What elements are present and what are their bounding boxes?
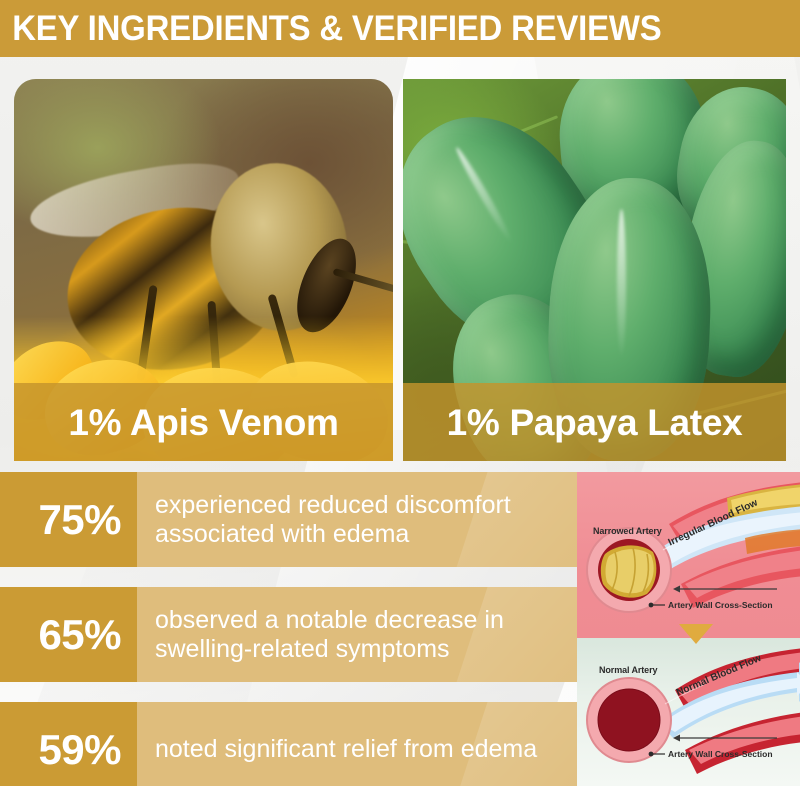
bottom-white-strip	[0, 786, 800, 800]
ingredient-card-papaya-latex[interactable]: 1% Papaya Latex	[403, 79, 786, 461]
statistics-list: 75% experienced reduced discomfort assoc…	[0, 472, 578, 800]
normal-artery-label: Normal Artery	[599, 665, 657, 675]
stat-description-text: noted significant relief from edema	[155, 735, 537, 764]
artery-comparison-diagram: Narrowed Artery Irregular Blood Flow Art…	[577, 472, 800, 786]
stat-percent-block: 75%	[0, 472, 137, 567]
stat-row: 59% noted significant relief from edema	[0, 702, 578, 797]
narrowed-artery-illustration	[577, 472, 800, 638]
normal-artery-illustration	[577, 638, 800, 786]
page-title: KEY INGREDIENTS & VERIFIED REVIEWS	[0, 11, 662, 46]
ingredient-card-apis-venom[interactable]: 1% Apis Venom	[14, 79, 393, 461]
ingredient-cards: 1% Apis Venom 1% Papaya Latex	[0, 57, 800, 461]
artery-wall-cross-section-label-top: Artery Wall Cross-Section	[668, 600, 773, 610]
ingredient-caption-bar: 1% Papaya Latex	[403, 383, 786, 461]
ingredient-caption-bar: 1% Apis Venom	[14, 383, 393, 461]
header-bar: KEY INGREDIENTS & VERIFIED REVIEWS	[0, 0, 800, 57]
stat-description-block: noted significant relief from edema	[137, 702, 578, 797]
stat-description-block: observed a notable decrease in swelling-…	[137, 587, 578, 682]
stat-row: 75% experienced reduced discomfort assoc…	[0, 472, 578, 567]
stat-description-text: experienced reduced discomfort associate…	[155, 491, 562, 549]
ingredient-caption-label: 1% Papaya Latex	[447, 404, 743, 441]
stat-percent-block: 65%	[0, 587, 137, 682]
stat-description-block: experienced reduced discomfort associate…	[137, 472, 578, 567]
narrowed-artery-panel: Narrowed Artery Irregular Blood Flow Art…	[577, 472, 800, 638]
narrowed-artery-label: Narrowed Artery	[593, 526, 662, 536]
artery-wall-cross-section-label-bottom: Artery Wall Cross-Section	[668, 749, 773, 759]
stat-percent-block: 59%	[0, 702, 137, 797]
stat-percent-value: 75%	[38, 499, 121, 541]
normal-artery-panel: Normal Artery Normal Blood Flow Artery W…	[577, 638, 800, 786]
stat-row: 65% observed a notable decrease in swell…	[0, 587, 578, 682]
ingredient-caption-label: 1% Apis Venom	[68, 404, 338, 441]
stat-percent-value: 65%	[38, 614, 121, 656]
stat-description-text: observed a notable decrease in swelling-…	[155, 606, 562, 664]
transition-down-arrow-icon	[679, 624, 713, 644]
infographic-root: KEY INGREDIENTS & VERIFIED REVIEWS 1%	[0, 0, 800, 800]
stat-percent-value: 59%	[38, 729, 121, 771]
